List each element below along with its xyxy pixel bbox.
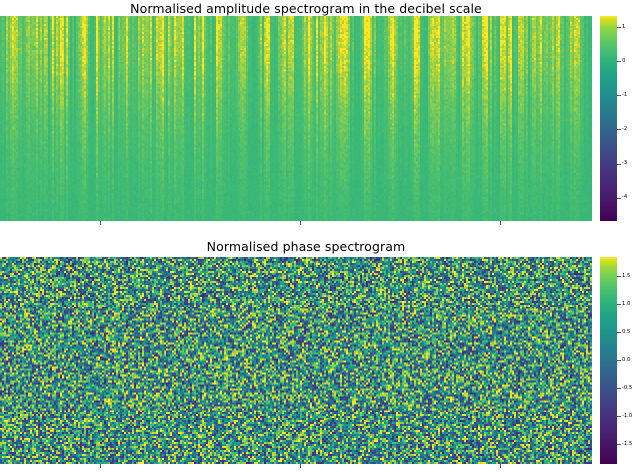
amplitude-colorbar-gradient (600, 16, 617, 221)
colorbar-ticklabel: 0.5 (622, 330, 630, 335)
colorbar-tickmark (617, 444, 621, 445)
amplitude-colorbar-ticks: 1 0 -1 -2 -3 (617, 16, 640, 221)
phase-xaxis (0, 464, 592, 474)
colorbar-ticklabel: -2 (622, 127, 627, 132)
phase-xaxis-spine (0, 464, 592, 465)
amplitude-xtick (500, 221, 501, 225)
colorbar-tickmark (617, 129, 621, 130)
phase-xtick (100, 464, 101, 468)
amplitude-colorbar: 1 0 -1 -2 -3 (600, 16, 617, 221)
colorbar-tickmark (617, 27, 621, 28)
amplitude-heatmap-axes (0, 16, 592, 221)
amplitude-xaxis-spine (0, 221, 592, 222)
amplitude-xaxis (0, 221, 592, 231)
colorbar-ticklabel: -1.0 (622, 414, 632, 419)
colorbar-ticklabel: -1.5 (622, 442, 632, 447)
colorbar-tickmark (617, 276, 621, 277)
colorbar-ticklabel: 1.5 (622, 273, 630, 278)
colorbar-ticklabel: 1 (622, 24, 625, 29)
phase-xtick (500, 464, 501, 468)
phase-colorbar-ticks: 1.5 1.0 0.5 0.0 -0.5 (617, 257, 640, 464)
phase-xtick (300, 464, 301, 468)
amplitude-xtick (300, 221, 301, 225)
colorbar-tickmark (617, 95, 621, 96)
colorbar-ticklabel: -0.5 (622, 386, 632, 391)
panel-phase-spectrogram: Normalised phase spectrogram 1.5 1.0 (0, 238, 640, 471)
phase-plot-title: Normalised phase spectrogram (0, 239, 612, 254)
colorbar-tickmark (617, 164, 621, 165)
amplitude-plot-title: Normalised amplitude spectrogram in the … (0, 1, 612, 16)
colorbar-tickmark (617, 416, 621, 417)
phase-colorbar-gradient (600, 257, 617, 464)
colorbar-ticklabel: -3 (622, 161, 627, 166)
panel-amplitude-spectrogram: Normalised amplitude spectrogram in the … (0, 0, 640, 232)
colorbar-ticklabel: 1.0 (622, 301, 630, 306)
phase-colorbar: 1.5 1.0 0.5 0.0 -0.5 (600, 257, 617, 464)
phase-heatmap-image (0, 257, 592, 464)
colorbar-tickmark (617, 360, 621, 361)
colorbar-tickmark (617, 332, 621, 333)
colorbar-ticklabel: 0 (622, 59, 625, 64)
colorbar-tickmark (617, 304, 621, 305)
colorbar-ticklabel: -1 (622, 93, 627, 98)
colorbar-tickmark (617, 198, 621, 199)
colorbar-tickmark (617, 388, 621, 389)
matplotlib-figure: Normalised amplitude spectrogram in the … (0, 0, 640, 471)
colorbar-ticklabel: 0.0 (622, 358, 630, 363)
phase-heatmap-axes (0, 257, 592, 464)
amplitude-xtick (100, 221, 101, 225)
amplitude-heatmap-image (0, 16, 592, 221)
colorbar-tickmark (617, 61, 621, 62)
colorbar-ticklabel: -4 (622, 195, 627, 200)
